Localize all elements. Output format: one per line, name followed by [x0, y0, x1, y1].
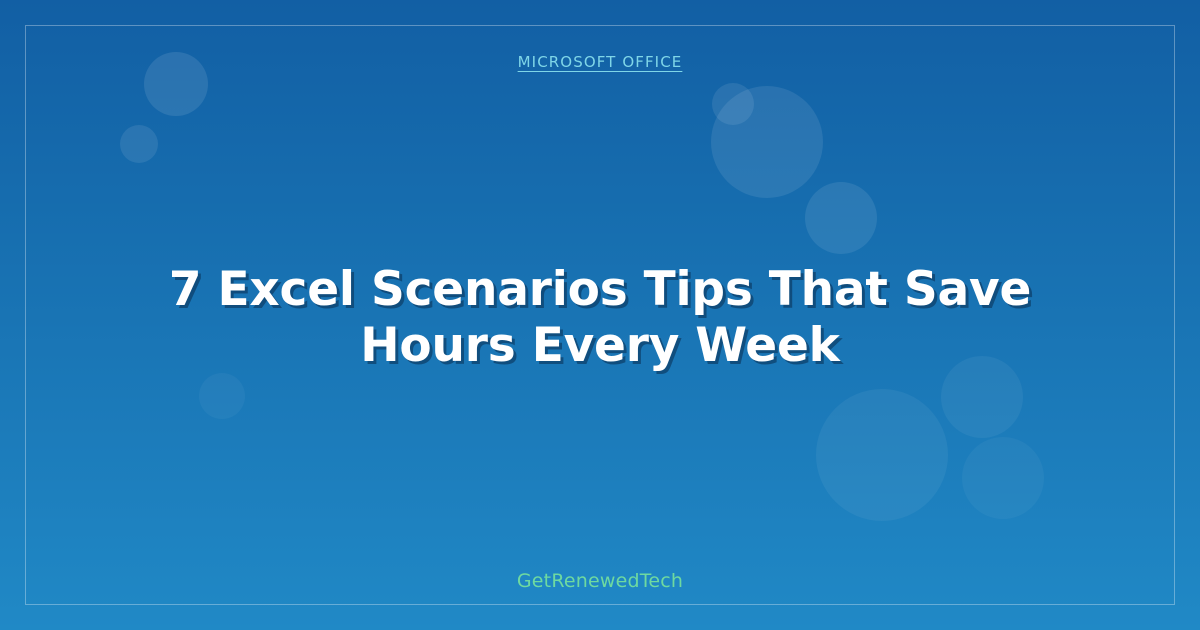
brand-footer: GetRenewedTech — [0, 570, 1200, 592]
card-content: MICROSOFT OFFICE 7 Excel Scenarios Tips … — [0, 0, 1200, 630]
category-label[interactable]: MICROSOFT OFFICE — [0, 53, 1200, 71]
social-card: MICROSOFT OFFICE 7 Excel Scenarios Tips … — [0, 0, 1200, 630]
page-title: 7 Excel Scenarios Tips That Save Hours E… — [100, 262, 1100, 374]
headline-container: 7 Excel Scenarios Tips That Save Hours E… — [100, 262, 1100, 374]
